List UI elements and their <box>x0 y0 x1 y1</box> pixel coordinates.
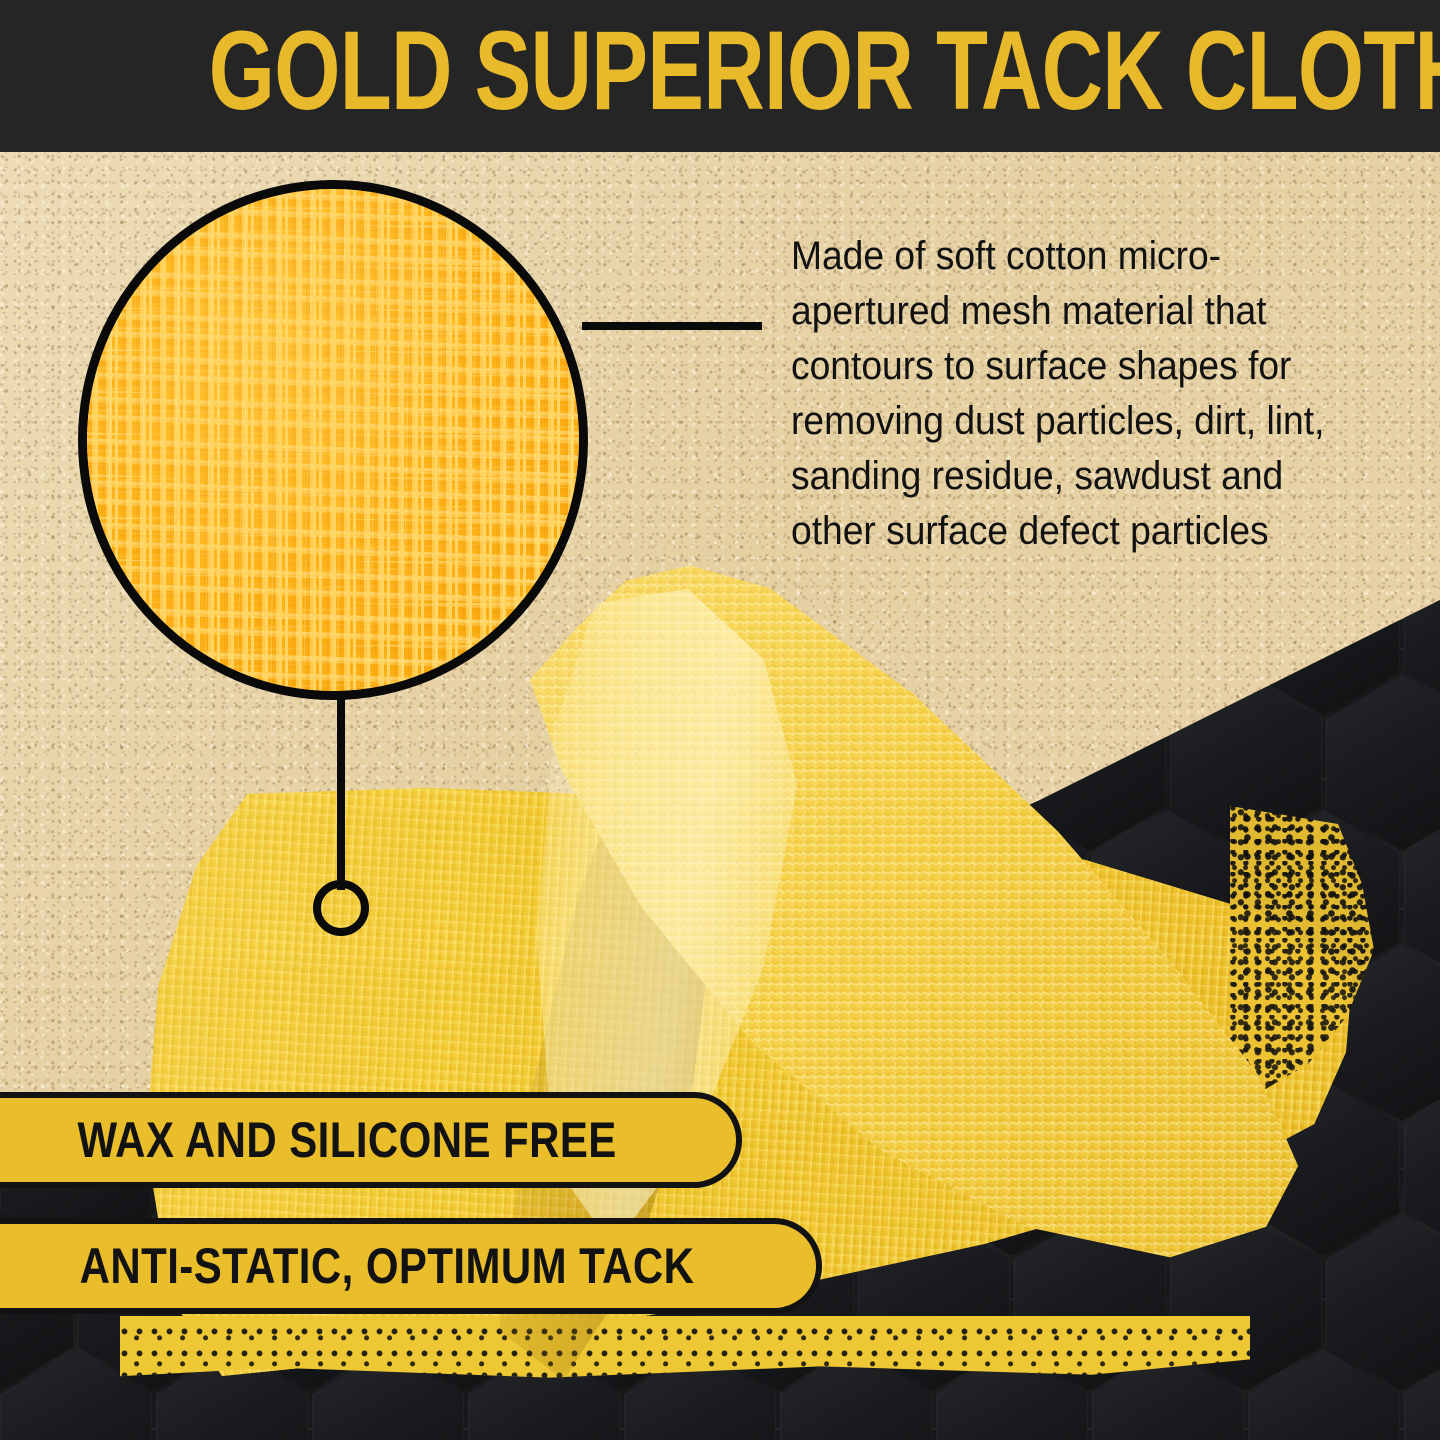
feature-badge-label: ANTI-STATIC, OPTIMUM TACK <box>80 1237 717 1295</box>
mesh-texture-closeup <box>81 183 585 697</box>
page-title: GOLD SUPERIOR TACK CLOTHS <box>0 18 1440 130</box>
feature-badge: WAX AND SILICONE FREE <box>0 1092 742 1188</box>
product-description: Made of soft cotton micro-apertured mesh… <box>791 229 1371 559</box>
product-description-text: Made of soft cotton micro-apertured mesh… <box>791 229 1330 559</box>
mesh-magnifier-circle <box>78 180 588 700</box>
callout-leader-line-vertical <box>337 694 345 890</box>
callout-anchor-ring-icon <box>313 880 369 936</box>
callout-leader-line-horizontal <box>582 322 762 330</box>
feature-badge: ANTI-STATIC, OPTIMUM TACK <box>0 1218 822 1314</box>
feature-badge-label: WAX AND SILICONE FREE <box>77 1111 638 1169</box>
infographic-canvas: Made of soft cotton micro-apertured mesh… <box>0 0 1440 1440</box>
title-bar: GOLD SUPERIOR TACK CLOTHS <box>0 0 1440 152</box>
page-title-text: GOLD SUPERIOR TACK CLOTHS <box>209 15 1440 127</box>
